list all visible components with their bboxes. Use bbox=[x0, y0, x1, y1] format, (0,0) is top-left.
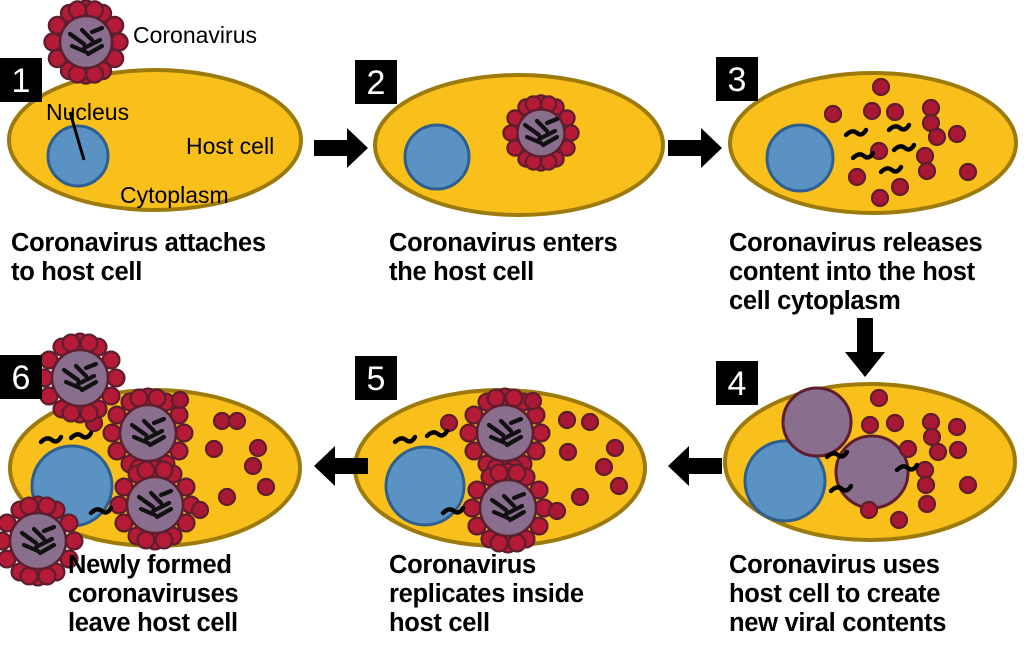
step-badge-1[interactable]: 1 bbox=[0, 58, 42, 102]
step-4-caption: Coronavirus uses host cell to create new… bbox=[729, 551, 1024, 638]
step-badge-5-label: 5 bbox=[367, 360, 386, 398]
step-badge-3-label: 3 bbox=[728, 61, 747, 99]
capsid-core bbox=[477, 405, 533, 461]
step-badge-4[interactable]: 4 bbox=[716, 361, 758, 405]
label-coronavirus: Coronavirus bbox=[133, 22, 257, 49]
step-2-illustration bbox=[375, 75, 663, 215]
step-badge-5[interactable]: 5 bbox=[355, 356, 397, 400]
step-6-illustration bbox=[0, 334, 300, 586]
step-badge-2[interactable]: 2 bbox=[355, 60, 397, 104]
step-1-caption: Coronavirus attaches to host cell bbox=[11, 229, 331, 287]
step-badge-4-label: 4 bbox=[728, 365, 747, 403]
step-2-caption: Coronavirus enters the host cell bbox=[389, 229, 689, 287]
capsid-core bbox=[120, 405, 176, 461]
step-4-illustration bbox=[725, 384, 1015, 540]
new-capsid-4-a bbox=[783, 388, 851, 456]
step-badge-6-label: 6 bbox=[12, 359, 31, 397]
diagram-canvas: 1 2 3 4 5 6 Coronavirus bbox=[0, 0, 1024, 652]
nucleus-5 bbox=[386, 447, 464, 525]
step-5-illustration bbox=[355, 389, 645, 553]
arrow-step3-to-step4 bbox=[845, 318, 885, 377]
label-host-cell: Host cell bbox=[186, 133, 274, 160]
step-6-caption: Newly formed coronaviruses leave host ce… bbox=[68, 551, 368, 638]
capsid-core bbox=[52, 350, 108, 406]
step-5-caption: Coronavirus replicates inside host cell bbox=[389, 551, 689, 638]
nucleus-2 bbox=[405, 125, 469, 189]
step-3-caption: Coronavirus releases content into the ho… bbox=[729, 229, 1024, 316]
capsid-core bbox=[480, 480, 536, 536]
step-badge-2-label: 2 bbox=[367, 64, 386, 102]
capsid-core bbox=[518, 110, 565, 157]
step-badge-1-label: 1 bbox=[12, 62, 31, 100]
arrow-step2-to-step3 bbox=[668, 128, 722, 168]
label-cytoplasm: Cytoplasm bbox=[120, 182, 229, 209]
capsid-core bbox=[10, 513, 66, 569]
arrow-step1-to-step2 bbox=[314, 128, 368, 168]
arrow-step4-to-step5 bbox=[668, 446, 722, 486]
label-nucleus: Nucleus bbox=[46, 99, 129, 126]
step-badge-3[interactable]: 3 bbox=[716, 57, 758, 101]
capsid-core bbox=[60, 16, 112, 68]
step-3-illustration bbox=[730, 73, 1016, 213]
step-badge-6[interactable]: 6 bbox=[0, 355, 42, 399]
nucleus-3 bbox=[767, 125, 833, 191]
capsid-core bbox=[127, 477, 183, 533]
